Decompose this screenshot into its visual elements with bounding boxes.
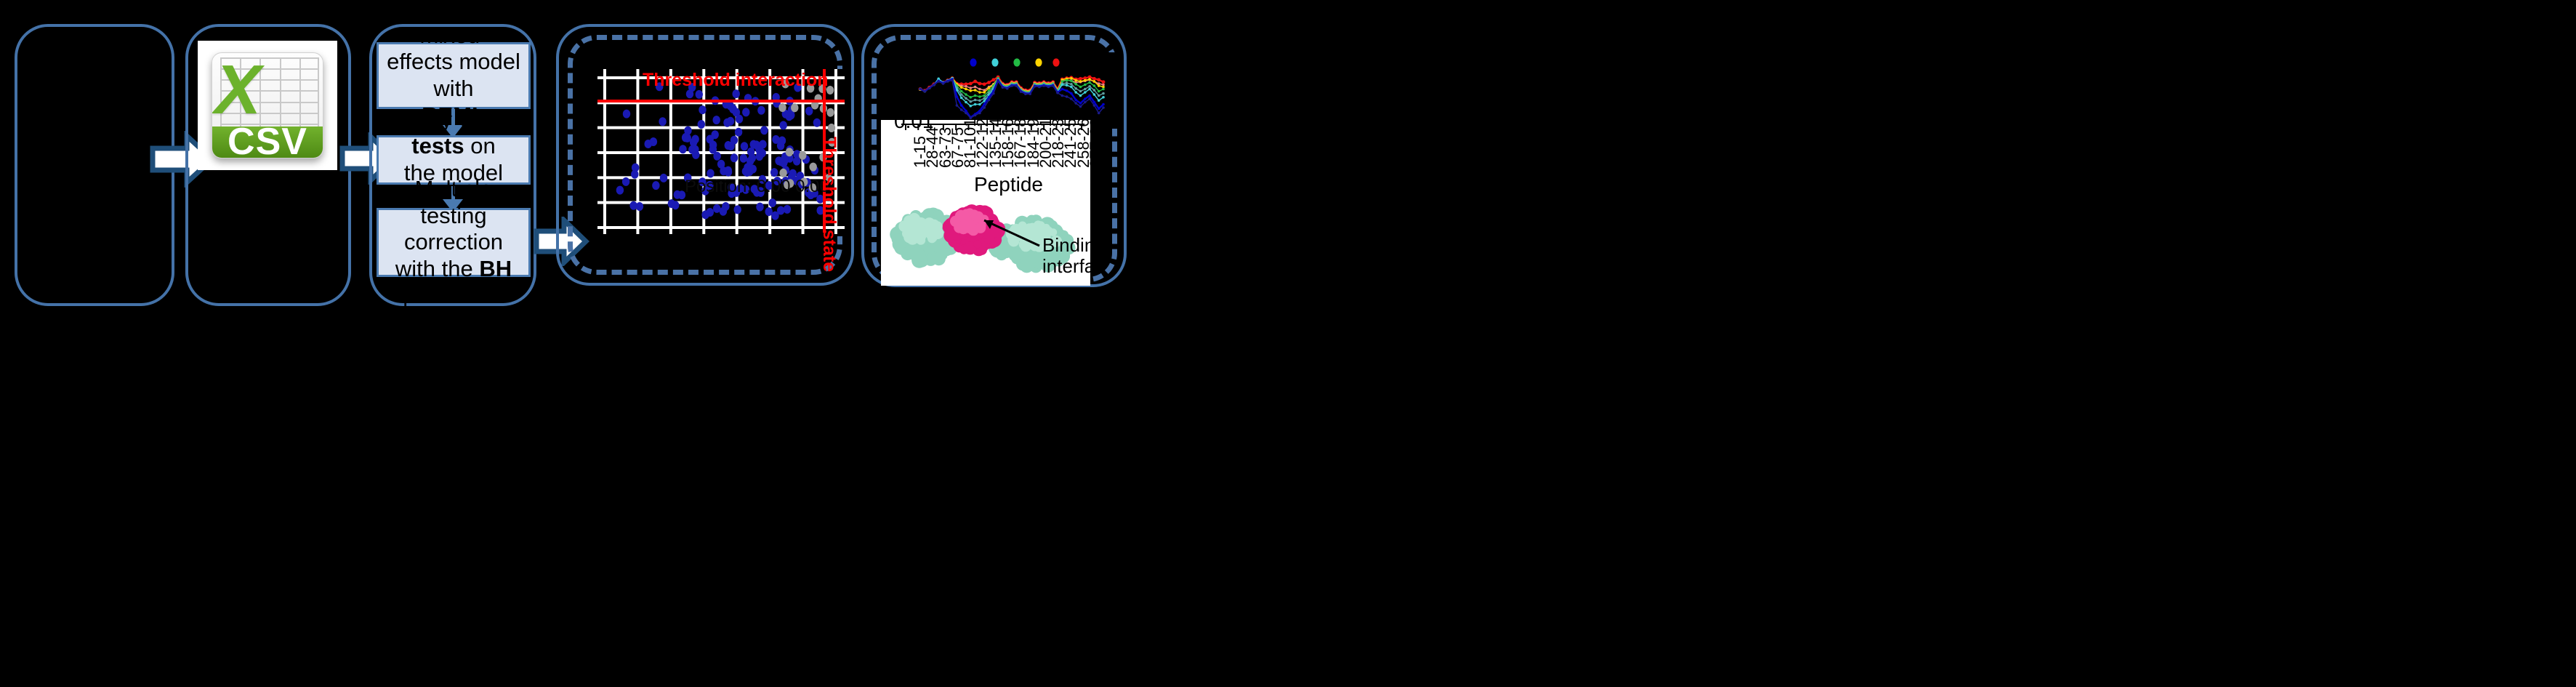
peptide-data-point	[1098, 95, 1100, 97]
scatter-point	[791, 103, 798, 112]
peptide-data-point	[1102, 88, 1105, 91]
protein-surface-blob	[903, 215, 914, 226]
peptide-data-point	[960, 86, 963, 89]
wald-line-1-pre: Apply	[395, 107, 458, 132]
peptide-data-point	[1098, 90, 1100, 93]
scatter-point	[645, 140, 652, 148]
peptide-data-point	[1088, 97, 1091, 100]
peptide-chart-background	[900, 52, 1118, 129]
scatter-point	[730, 136, 738, 145]
peptide-data-point	[970, 89, 973, 92]
csv-file-icon: X CSV	[198, 41, 337, 170]
scatter-point	[770, 168, 778, 177]
scatter-point	[623, 110, 630, 118]
peptide-data-point	[997, 80, 999, 83]
scatter-point	[691, 135, 699, 144]
peptide-data-point	[978, 112, 981, 115]
protein-surface-blob	[914, 218, 925, 229]
peptide-data-point	[1084, 79, 1087, 82]
peptide-data-point	[1079, 105, 1082, 108]
threshold-interaction-label: Threshold interaction	[643, 70, 829, 91]
peptide-data-point	[965, 101, 967, 104]
scatter-point	[616, 186, 624, 195]
scatter-point	[698, 120, 705, 129]
peptide-data-point	[924, 90, 927, 93]
peptide-data-point	[1079, 95, 1082, 97]
scatter-point	[742, 108, 749, 116]
csv-format-band: CSV	[212, 126, 323, 158]
scatter-point	[799, 151, 806, 160]
peptide-data-point	[960, 108, 963, 111]
legend-dot	[970, 58, 976, 66]
peptide-data-point	[978, 91, 981, 94]
peptide-data-point	[928, 87, 931, 89]
peptide-line-chart	[900, 52, 1118, 129]
protein-surface-blob	[1021, 257, 1036, 272]
scatter-point	[717, 160, 725, 169]
peptide-data-point	[978, 82, 982, 86]
legend-dot	[1013, 58, 1020, 66]
protein-surface-blob	[973, 240, 981, 248]
csv-tile: X CSV	[212, 52, 323, 158]
peptide-data-point	[1102, 96, 1105, 99]
peptide-data-point	[951, 79, 954, 82]
scatter-point	[674, 190, 681, 199]
peptide-data-point	[1088, 95, 1091, 97]
peptide-data-point	[1074, 79, 1077, 82]
scatter-faint-annotation: Position: 0.00 0.00	[685, 177, 829, 197]
protein-surface-blob	[978, 222, 986, 230]
peptide-data-point	[1084, 91, 1087, 94]
scatter-point	[725, 141, 732, 150]
peptide-data-point	[960, 104, 963, 107]
scatter-point	[757, 106, 765, 115]
peptide-data-point	[1079, 80, 1082, 83]
bh-line-3-post: procedure	[403, 282, 504, 308]
scatter-point	[679, 145, 686, 153]
peptide-data-point	[1093, 89, 1096, 92]
peptide-data-point	[970, 87, 973, 89]
scatter-point	[828, 124, 835, 132]
scatter-point	[660, 174, 667, 182]
peptide-data-point	[919, 88, 922, 91]
scatter-point	[696, 90, 703, 99]
scatter-point	[659, 117, 666, 126]
peptide-data-point	[1102, 106, 1105, 109]
peptide-data-point	[1074, 91, 1077, 94]
peptide-data-point	[1066, 79, 1068, 82]
peptide-axis-and-structure: 0.01 1-1528-4463-7367-7581-101122-129135…	[881, 120, 1090, 286]
binding-interface-label: Binding interface	[1042, 235, 1090, 276]
peptide-data-point	[1015, 84, 1018, 87]
scatter-point	[736, 115, 743, 124]
peptide-data-point	[1084, 84, 1087, 87]
peptide-data-point	[970, 96, 973, 99]
peptide-data-point	[978, 95, 981, 98]
peptide-data-point	[1070, 77, 1073, 80]
peptide-data-point	[1020, 90, 1023, 93]
peptide-data-point	[973, 80, 977, 84]
scatter-point	[740, 154, 747, 163]
peptide-data-point	[1052, 84, 1055, 87]
fit-model-line-1: Fit a linear mixed-	[401, 0, 507, 48]
scatter-point	[741, 142, 748, 150]
peptide-data-point	[991, 78, 995, 81]
scatter-point	[760, 126, 768, 134]
csv-format-label: CSV	[228, 120, 307, 158]
peptide-data-point	[974, 95, 977, 97]
peptide-data-point	[1084, 88, 1087, 91]
peptide-data-point	[1070, 79, 1073, 82]
bh-line-1: Multiple testing	[415, 176, 493, 228]
scatter-point	[713, 116, 720, 124]
peptide-data-point	[965, 97, 967, 100]
peptide-data-point	[1038, 86, 1041, 89]
scatter-point	[723, 118, 730, 127]
scatter-point	[747, 148, 754, 156]
peptide-data-point	[1056, 92, 1059, 95]
scatter-point	[805, 107, 813, 116]
scatter-point	[769, 198, 776, 207]
scatter-point	[813, 118, 821, 127]
peptide-data-point	[1061, 88, 1064, 91]
protein-surface-blob	[971, 213, 978, 220]
scatter-point	[652, 181, 659, 190]
peptide-data-point	[1098, 84, 1100, 87]
fit-model-line-2: effects model with	[387, 49, 520, 101]
peptide-data-point	[1093, 93, 1096, 96]
protein-surface-blob	[959, 220, 968, 229]
peptide-data-point	[987, 81, 991, 84]
peptide-data-point	[1098, 99, 1100, 102]
scatter-point	[810, 163, 817, 172]
peptide-data-point	[1061, 84, 1064, 87]
peptide-data-point	[1093, 104, 1096, 107]
scatter-point	[686, 89, 693, 98]
peptide-data-point	[983, 91, 986, 94]
fit-model-box: Fit a linear mixed- effects model with R…	[377, 42, 531, 109]
workflow-diagram: X CSV Fit a linear mixed- effects model …	[0, 0, 2576, 687]
peptide-data-point	[1074, 99, 1077, 102]
peptide-data-point	[1029, 92, 1031, 95]
peptide-data-point	[978, 103, 981, 106]
bh-line-2: correction	[404, 229, 503, 254]
excel-x-letter: X	[214, 55, 261, 125]
peptide-data-point	[1070, 83, 1073, 86]
scatter-point	[734, 205, 741, 214]
peptide-tick-label: 277-284	[1087, 120, 1090, 168]
peptide-data-point	[1088, 88, 1091, 91]
bh-correction-box: Multiple testing correction with the BH …	[377, 208, 531, 277]
scatter-point	[826, 108, 834, 117]
peptide-data-point	[1006, 87, 1009, 90]
scatter-point	[784, 205, 791, 214]
protein-surface-blob	[932, 252, 946, 266]
threshold-state-label: Threshold state	[818, 137, 840, 272]
peptide-data-point	[983, 106, 986, 109]
peptide-data-point	[1034, 85, 1037, 88]
peptide-data-point	[1088, 81, 1091, 84]
peptide-data-point	[1102, 103, 1105, 106]
scatter-point	[756, 147, 763, 156]
peptide-data-point	[965, 88, 967, 91]
legend-dot	[1052, 58, 1059, 66]
peptide-data-point	[974, 86, 977, 89]
peptide-data-point	[1070, 86, 1073, 89]
peptide-data-point	[992, 92, 995, 95]
scatter-point	[765, 207, 773, 216]
peptide-data-point	[978, 88, 981, 91]
peptide-data-point	[960, 97, 963, 100]
peptide-data-point	[1024, 92, 1027, 95]
scatter-point	[713, 152, 720, 161]
scatter-point	[777, 206, 784, 215]
peptide-data-point	[1047, 86, 1050, 89]
scatter-point	[672, 201, 679, 209]
scatter-point	[772, 135, 779, 144]
peptide-data-point	[965, 93, 967, 96]
bh-line-3-pre: with the	[395, 256, 479, 281]
peptide-data-point	[965, 85, 967, 88]
peptide-data-point	[956, 104, 959, 107]
legend-dot	[1035, 58, 1042, 66]
scatter-point	[756, 203, 763, 212]
peptide-data-point	[1066, 84, 1068, 87]
peptide-data-point	[1079, 77, 1082, 81]
peptide-data-point	[1098, 108, 1100, 111]
peptide-data-point	[1093, 84, 1096, 87]
protein-surface-blob	[1013, 249, 1023, 260]
peptide-data-point	[1088, 85, 1091, 88]
peptide-data-point	[965, 112, 967, 115]
peptide-data-point	[988, 99, 991, 102]
peptide-data-point	[946, 80, 949, 83]
scatter-point	[735, 128, 742, 137]
peptide-data-point	[970, 100, 973, 103]
legend-dot	[991, 58, 998, 66]
peptide-data-point	[933, 84, 935, 87]
peptide-data-point	[978, 99, 981, 102]
scatter-point	[725, 166, 732, 175]
protein-surface-blob	[962, 209, 970, 218]
peptide-data-point	[1079, 90, 1082, 93]
peptide-data-point	[1070, 92, 1073, 95]
peptide-data-point	[974, 103, 977, 106]
peptide-data-point	[974, 89, 977, 92]
protein-surface-blob	[926, 222, 934, 230]
scatter-point	[629, 201, 637, 210]
peptide-data-point	[1066, 95, 1068, 98]
scatter-point	[780, 121, 787, 129]
scatter-point	[682, 133, 689, 142]
peptide-data-point	[1084, 97, 1087, 100]
protein-surface-blob	[1027, 223, 1037, 233]
volcano-scatter-plot: Position: 0.00 0.00	[597, 69, 845, 236]
peptide-data-point	[1061, 95, 1064, 97]
scatter-point	[742, 167, 749, 176]
scatter-point	[749, 165, 757, 174]
peptide-data-point	[970, 105, 973, 108]
scatter-point	[778, 103, 786, 112]
protein-surface-blob	[907, 233, 917, 243]
peptide-data-point	[1074, 87, 1077, 90]
peptide-data-point	[1102, 80, 1106, 84]
peptide-data-point	[1074, 83, 1077, 86]
scatter-point	[786, 148, 793, 156]
peptide-data-point	[1084, 101, 1087, 104]
scatter-point	[722, 202, 729, 211]
peptide-data-point	[1079, 86, 1082, 89]
binding-label-line-2: interface	[1042, 255, 1090, 277]
peptide-data-point	[1102, 92, 1105, 95]
peptide-data-point	[1079, 102, 1082, 105]
protein-surface-blob	[909, 247, 925, 262]
peptide-data-point	[974, 114, 977, 117]
peptide-data-point	[1010, 84, 1013, 87]
peptide-data-point	[974, 99, 977, 102]
peptide-data-point	[1002, 86, 1005, 89]
peptide-data-point	[970, 116, 973, 119]
peptide-data-point	[1070, 97, 1073, 100]
protein-surface-blob	[952, 217, 960, 225]
peptide-data-point	[1066, 89, 1068, 92]
peptide-data-point	[1092, 77, 1096, 81]
peptide-data-point	[960, 90, 963, 93]
peptide-data-point	[988, 87, 991, 89]
peptide-data-point	[1042, 84, 1045, 87]
peptide-data-point	[969, 82, 973, 86]
peptide-data-point	[1093, 101, 1096, 104]
scatter-point	[746, 157, 754, 166]
binding-label-line-1: Binding	[1042, 234, 1090, 256]
scatter-point	[622, 177, 629, 186]
scatter-point	[730, 153, 738, 162]
scatter-point	[699, 105, 706, 114]
scatter-point	[631, 170, 638, 179]
protein-surface-blob	[917, 236, 926, 245]
peptide-data-point	[1074, 102, 1077, 105]
bh-bold: BH	[479, 256, 512, 281]
peptide-data-point	[1098, 112, 1100, 115]
wald-line-1-post: on	[464, 133, 496, 158]
peptide-data-point	[937, 80, 940, 83]
peptide-data-point	[1093, 80, 1096, 83]
peptide-data-point	[1097, 78, 1100, 81]
peptide-data-point	[1088, 78, 1091, 81]
peptide-data-point	[942, 82, 945, 85]
peptide-data-point	[983, 82, 986, 86]
scatter-point	[701, 210, 709, 219]
